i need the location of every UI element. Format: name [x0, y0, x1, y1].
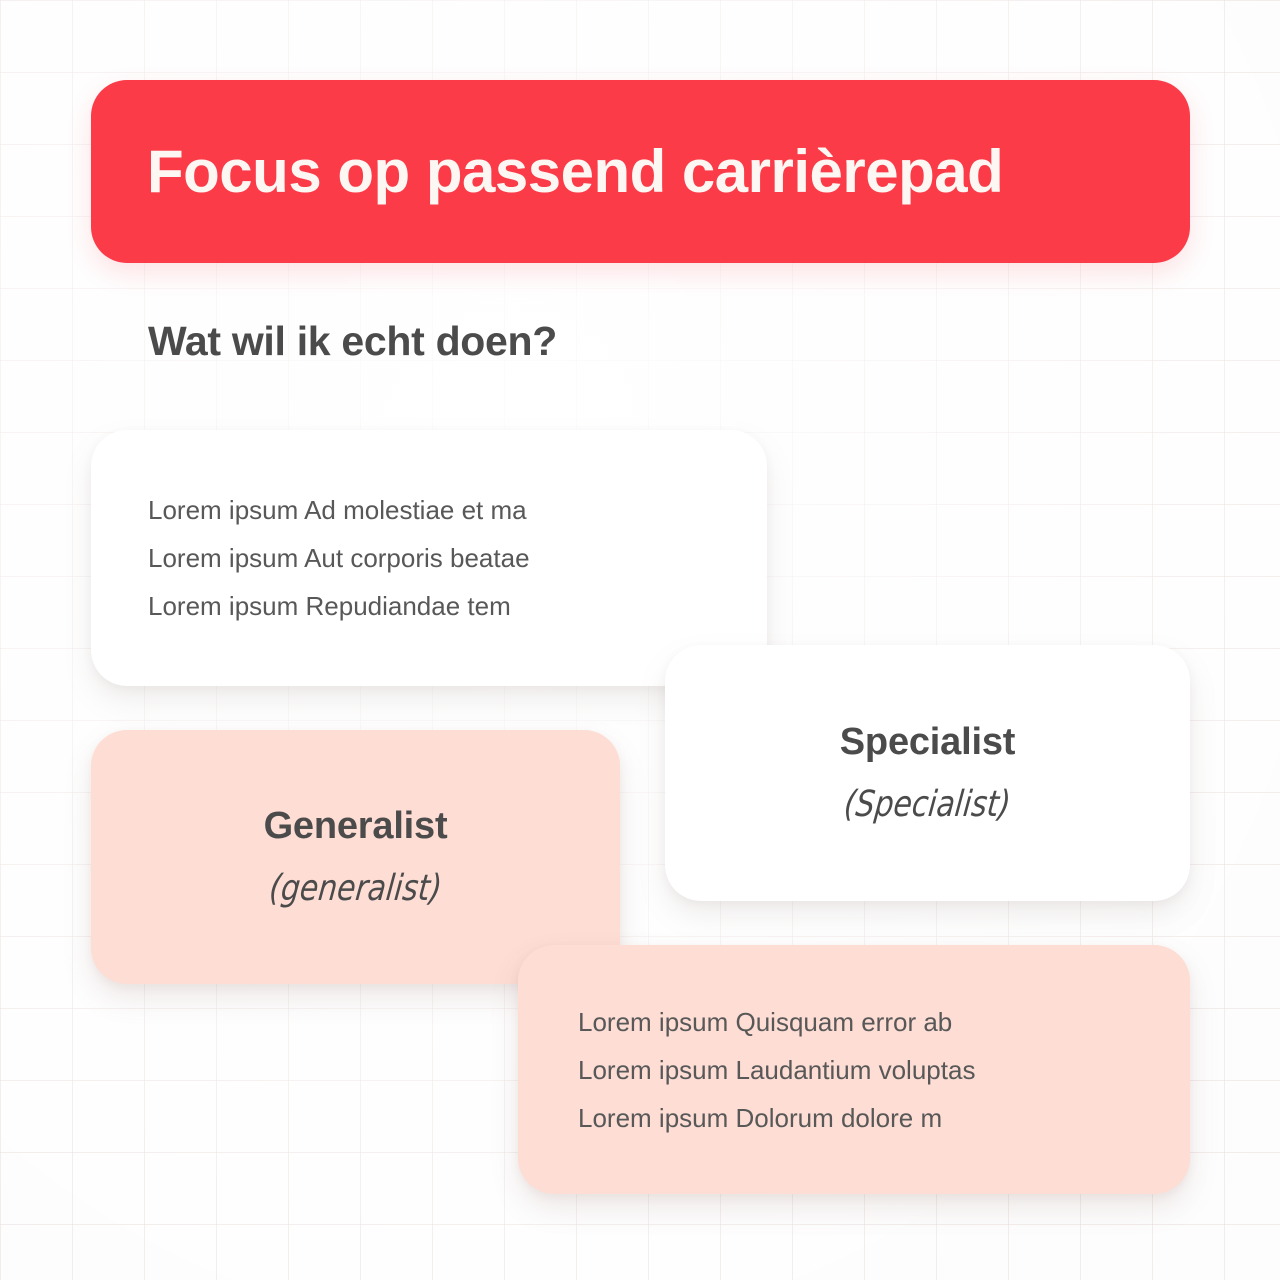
specialist-subtitle: (Specialist) — [843, 787, 1013, 823]
page-title: Focus op passend carrièrepad — [147, 140, 1003, 203]
list-item: Lorem ipsum Laudantium voluptas — [578, 1057, 1190, 1083]
generalist-title: Generalist — [264, 807, 448, 845]
title-banner: Focus op passend carrièrepad — [91, 80, 1190, 263]
list-bottom: Lorem ipsum Quisquam error ab Lorem ipsu… — [518, 945, 1190, 1194]
specialist-title: Specialist — [840, 723, 1015, 761]
list-item: Lorem ipsum Aut corporis beatae — [148, 545, 767, 571]
list-item: Lorem ipsum Quisquam error ab — [578, 1009, 1190, 1035]
slide-canvas: Focus op passend carrièrepad Wat wil ik … — [0, 0, 1280, 1280]
list-item: Lorem ipsum Dolorum dolore m — [578, 1105, 1190, 1131]
generalist-subtitle: (generalist) — [268, 871, 444, 907]
section-heading: Wat wil ik echt doen? — [148, 318, 557, 365]
card-specialist: Specialist (Specialist) — [665, 645, 1190, 901]
card-bottom-list: Lorem ipsum Quisquam error ab Lorem ipsu… — [518, 945, 1190, 1194]
list-item: Lorem ipsum Ad molestiae et ma — [148, 497, 767, 523]
specialist-label-block: Specialist (Specialist) — [665, 645, 1190, 901]
list-item: Lorem ipsum Repudiandae tem — [148, 593, 767, 619]
